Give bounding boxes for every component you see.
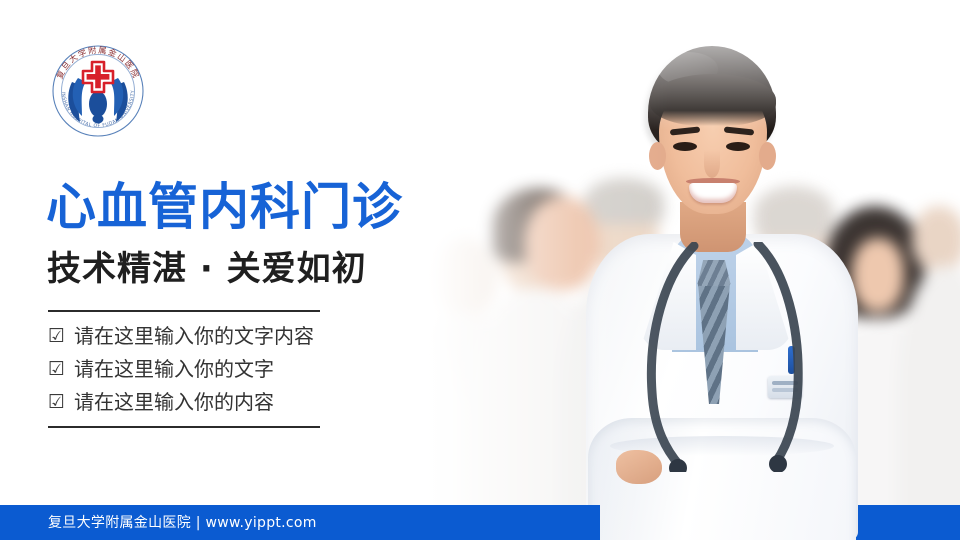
page-title: 心血管内科门诊 <box>46 182 403 232</box>
hospital-emblem-icon: 复旦大学附属金山医院 JINSHAN HOSPITAL OF FUDAN UNI… <box>48 44 148 138</box>
footer-text: 复旦大学附属金山医院 | www.yippt.com <box>48 512 317 532</box>
page-subtitle: 技术精湛 · 关爱如初 <box>47 252 367 286</box>
checkbox-checked-icon: ☑ <box>48 393 65 412</box>
list-item-label: 请在这里输入你的文字内容 <box>74 326 314 346</box>
list-item: ☑ 请在这里输入你的内容 <box>48 392 314 412</box>
presentation-slide: 复旦大学附属金山医院 | www.yippt.com 复旦大学附属金山医院 JI… <box>0 0 960 540</box>
doctor-hair-fringe <box>650 74 776 126</box>
divider-bottom <box>48 426 320 428</box>
bullet-list: ☑ 请在这里输入你的文字内容 ☑ 请在这里输入你的文字 ☑ 请在这里输入你的内容 <box>48 326 314 425</box>
doctor-eye-right <box>726 142 750 151</box>
checkbox-checked-icon: ☑ <box>48 360 65 379</box>
doctor-ear-right <box>759 142 776 170</box>
list-item: ☑ 请在这里输入你的文字内容 <box>48 326 314 346</box>
list-item: ☑ 请在这里输入你的文字 <box>48 359 314 379</box>
doctor-ear-left <box>649 142 666 170</box>
doctor-nose <box>704 150 720 178</box>
doctor-eye-left <box>673 142 697 151</box>
checkbox-checked-icon: ☑ <box>48 327 65 346</box>
stethoscope-icon <box>608 242 830 472</box>
foreground-doctor-figure <box>592 46 852 540</box>
hospital-logo: 复旦大学附属金山医院 JINSHAN HOSPITAL OF FUDAN UNI… <box>48 44 148 138</box>
list-item-label: 请在这里输入你的文字 <box>74 359 274 379</box>
doctor-smile <box>689 183 737 203</box>
list-item-label: 请在这里输入你的内容 <box>74 392 274 412</box>
divider-top <box>48 310 320 312</box>
